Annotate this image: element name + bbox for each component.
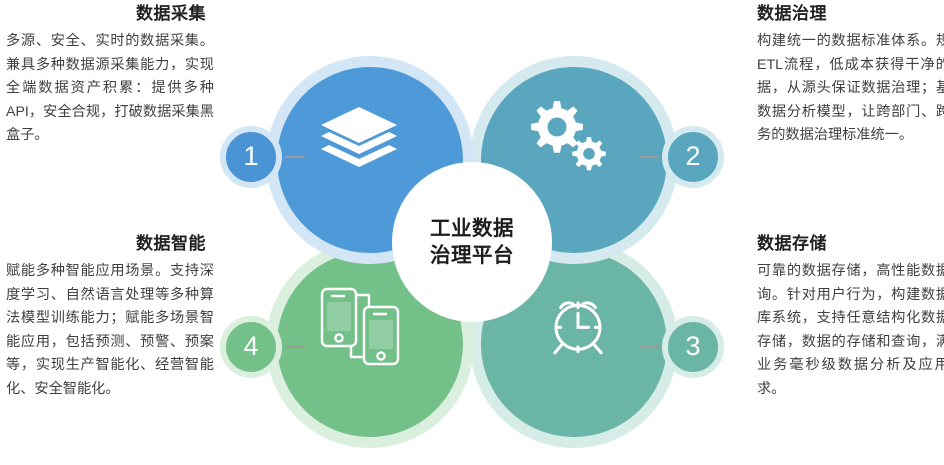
badge-3-number: 3 — [685, 333, 700, 360]
connector-line-1 — [285, 156, 305, 158]
connector-line-3 — [639, 346, 659, 348]
alarm-clock-icon — [541, 288, 615, 362]
center-label-line2: 治理平台 — [430, 242, 514, 269]
layers-icon — [317, 105, 401, 181]
center-label: 工业数据 治理平台 — [407, 177, 537, 307]
smartphones-icon — [317, 285, 409, 369]
badge-4-number: 4 — [243, 333, 258, 360]
badge-2-number: 2 — [685, 143, 700, 170]
center-lens[interactable]: 工业数据 治理平台 — [392, 162, 552, 322]
badge-1-number: 1 — [243, 143, 258, 170]
connector-line-2 — [639, 156, 659, 158]
badge-2[interactable]: 2 — [662, 126, 724, 188]
venn-diagram: 工业数据 治理平台 1 2 3 4 — [0, 0, 944, 465]
connector-line-4 — [285, 346, 305, 348]
badge-1[interactable]: 1 — [220, 126, 282, 188]
badge-4[interactable]: 4 — [220, 316, 282, 378]
infographic-canvas: 数据采集 多源、安全、实时的数据采集。兼具多种数据源采集能力，实现全端数据资产积… — [0, 0, 944, 465]
center-label-line1: 工业数据 — [430, 215, 514, 242]
badge-3[interactable]: 3 — [662, 316, 724, 378]
gears-icon — [517, 93, 611, 177]
